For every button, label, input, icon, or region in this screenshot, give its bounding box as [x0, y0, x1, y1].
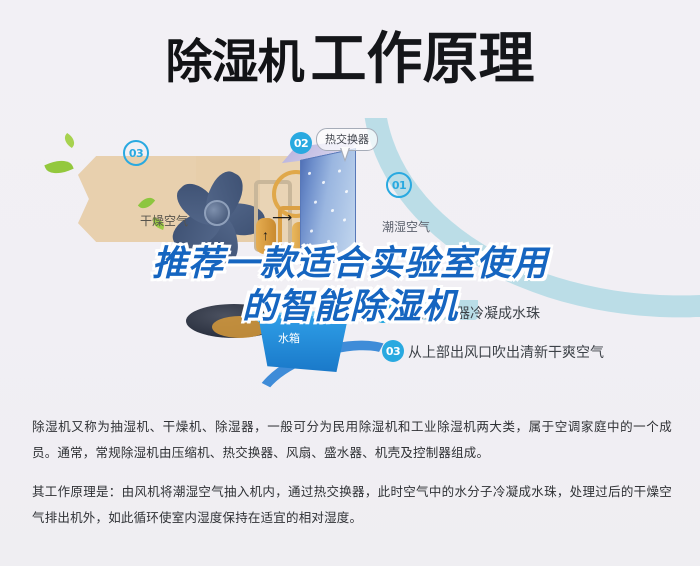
step-text-02: 经过蒸发器冷凝成水珠 — [400, 303, 540, 323]
droplet-shape — [331, 209, 334, 213]
leaf-icon — [44, 156, 73, 179]
page-header: 除湿机 工作原理 — [0, 0, 700, 120]
article-paragraph-2: 其工作原理是：由风机将潮湿空气抽入机内，通过热交换器，此时空气中的水分子冷凝成水… — [32, 479, 672, 530]
article-paragraph-1: 除湿机又称为抽湿机、干燥机、除湿器，一般可分为民用除湿机和工业除湿机两大类，属于… — [32, 414, 672, 465]
droplet-shape — [310, 229, 313, 233]
callout-label-dry-air: 干燥空气 — [140, 212, 188, 229]
leaf-icon — [62, 133, 78, 148]
step-badge-02: 02 — [372, 301, 394, 323]
page-title-part-2: 工作原理 — [311, 32, 535, 88]
droplet-shape — [345, 190, 348, 194]
droplet-shape — [319, 253, 322, 257]
fan-hub-shape — [204, 200, 230, 226]
callout-label-humid-air: 潮湿空气 — [382, 218, 430, 235]
flow-arrow-icon: ↑ — [262, 228, 269, 242]
callout-badge-03-dry-air: 03 — [123, 140, 149, 166]
page-root: 除湿机 工作原理 ⟶ ↑ ↓ — [0, 0, 700, 566]
callout-badge-02-heat-exchanger: 02 — [290, 132, 312, 154]
callout-bubble-tail-shape — [340, 148, 350, 162]
water-tank-shape — [252, 314, 348, 372]
water-tank-label: 水箱 — [278, 330, 300, 346]
droplet-shape — [327, 240, 330, 244]
step-text-03: 从上部出风口吹出清新干爽空气 — [408, 342, 604, 362]
droplet-shape — [338, 169, 341, 173]
article-body: 除湿机又称为抽湿机、干燥机、除湿器，一般可分为民用除湿机和工业除湿机两大类，属于… — [32, 414, 672, 531]
dehumidifier-diagram: ⟶ ↑ ↓ 水箱 03 干燥空气 02 热交 — [0, 118, 700, 408]
step-badge-03: 03 — [382, 340, 404, 362]
droplet-shape — [314, 200, 317, 204]
page-title: 除湿机 工作原理 — [166, 32, 535, 88]
flow-arrow-icon: ⟶ — [272, 210, 292, 224]
page-title-part-1: 除湿机 — [166, 39, 304, 86]
callout-badge-01-humid-air: 01 — [386, 172, 412, 198]
droplet-shape — [308, 172, 311, 176]
condensation-droplets — [300, 148, 356, 270]
droplet-shape — [322, 181, 325, 185]
droplet-shape — [343, 218, 346, 222]
